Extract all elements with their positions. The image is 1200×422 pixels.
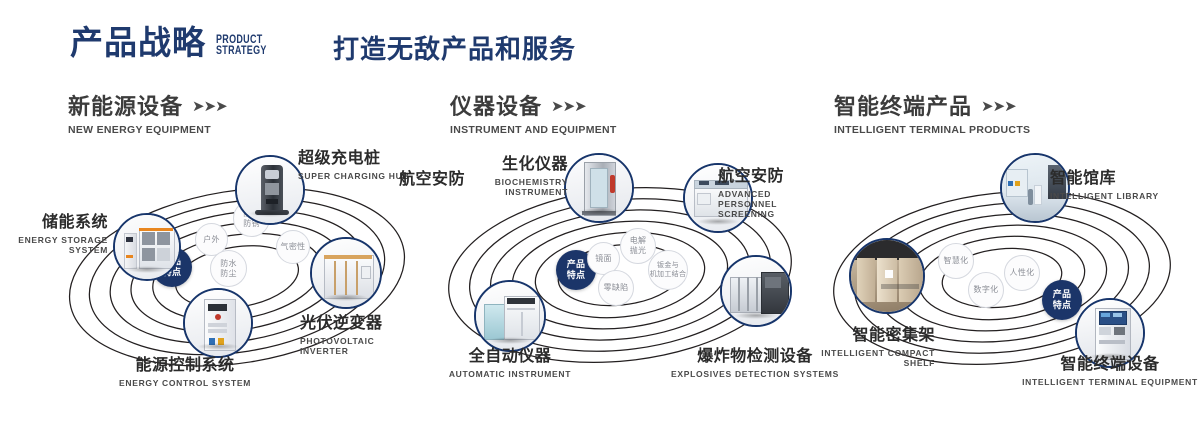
- node-label-cn: 全自动仪器: [425, 349, 595, 366]
- page-title: 产品战略 PRODUCT STRATEGY: [70, 26, 281, 59]
- cluster-instrument: 产品 特点 镜面 电解 抛光 零缺陷 钣金与 机加工结合: [430, 155, 810, 395]
- section-title-en: NEW ENERGY EQUIPMENT: [68, 125, 227, 136]
- poster-root: 产品战略 PRODUCT STRATEGY 打造无敌产品和服务 新能源设备➤➤➤…: [0, 0, 1200, 422]
- chevrons-icon: ➤➤➤: [192, 97, 227, 115]
- node-label-biochemistry: 生化仪器 BIOCHEMISTRY INSTRUMENT: [420, 157, 568, 197]
- node-label-cn: 智能终端设备: [1000, 357, 1200, 374]
- node-label-cn: 智能馆库: [1050, 171, 1159, 188]
- node-label-cn: 能源控制系统: [85, 358, 285, 375]
- product-photo-explosives-detection[interactable]: [720, 255, 792, 327]
- chevrons-icon: ➤➤➤: [551, 97, 586, 115]
- node-label-en: BIOCHEMISTRY INSTRUMENT: [420, 177, 568, 197]
- section-title-en: INTELLIGENT TERMINAL PRODUCTS: [834, 125, 1030, 136]
- feature-bubble-zero-defect: 零缺陷: [598, 270, 634, 306]
- section-title-cn: 仪器设备: [450, 96, 542, 118]
- page-title-en: PRODUCT STRATEGY: [216, 35, 267, 57]
- chevrons-icon: ➤➤➤: [981, 97, 1016, 115]
- feature-bubble-waterproof: 防水 防尘: [210, 250, 247, 287]
- cluster-new-energy: 产品 特点 户外 防腐 防锈 防水 防尘 气密性: [55, 155, 425, 395]
- node-label-intelligent-library: 智能馆库 INTELLIGENT LIBRARY: [1050, 171, 1159, 201]
- node-label-compact-shelf: 智能密集架 INTELLIGENT COMPACT SHELF: [810, 328, 935, 368]
- product-photo-energy-control[interactable]: [183, 288, 253, 358]
- node-label-en: INTELLIGENT TERMINAL EQUIPMENT: [1000, 377, 1200, 387]
- node-label-cn: 光伏逆变器: [300, 316, 425, 333]
- section-heading-intelligent: 智能终端产品➤➤➤ INTELLIGENT TERMINAL PRODUCTS: [834, 96, 1030, 136]
- node-label-energy-control: 能源控制系统 ENERGY CONTROL SYSTEM: [85, 358, 285, 388]
- product-photo-automatic-instrument[interactable]: [474, 280, 546, 352]
- node-label-cn: 储能系统: [13, 215, 108, 232]
- section-title-cn: 智能终端产品: [834, 96, 972, 118]
- node-label-cn: 航空安防: [718, 169, 810, 186]
- feature-bubble-sheetmetal-machining: 钣金与 机加工结合: [648, 250, 688, 290]
- feature-bubble-smart: 智慧化: [938, 243, 974, 279]
- section-heading-instrument: 仪器设备➤➤➤ INSTRUMENT AND EQUIPMENT: [450, 96, 617, 136]
- node-label-cn: 生化仪器: [420, 157, 568, 174]
- page-subtitle: 打造无敌产品和服务: [333, 36, 576, 62]
- product-photo-pv-inverter[interactable]: [310, 237, 382, 309]
- feature-bubble-humanized: 人性化: [1004, 255, 1040, 291]
- node-label-en: INTELLIGENT LIBRARY: [1050, 191, 1159, 201]
- node-label-personnel-screening: 航空安防 ADVANCED PERSONNEL SCREENING: [718, 169, 810, 219]
- product-photo-compact-shelf[interactable]: [849, 238, 925, 314]
- product-photo-biochemistry-instrument[interactable]: [564, 153, 634, 223]
- product-photo-energy-storage[interactable]: [113, 213, 181, 281]
- feature-core-bubble: 产品 特点: [1042, 280, 1082, 320]
- node-label-automatic-instrument: 全自动仪器 AUTOMATIC INSTRUMENT: [425, 349, 595, 379]
- node-label-pv-inverter: 光伏逆变器 PHOTOVOLTAIC INVERTER: [300, 316, 425, 356]
- page-title-cn: 产品战略: [70, 26, 206, 59]
- section-title-en: INSTRUMENT AND EQUIPMENT: [450, 125, 617, 136]
- node-label-en: INTELLIGENT COMPACT SHELF: [810, 348, 935, 368]
- cluster-intelligent-terminal: 智慧化 数字化 人性化 产品 特点: [820, 160, 1200, 400]
- node-label-en: AUTOMATIC INSTRUMENT: [425, 369, 595, 379]
- node-label-energy-storage: 储能系统 ENERGY STORAGE SYSTEM: [13, 215, 108, 255]
- product-photo-charging-hub[interactable]: [235, 155, 305, 225]
- node-label-en: ADVANCED PERSONNEL SCREENING: [718, 189, 810, 219]
- node-label-cn: 超级充电桩: [298, 151, 409, 168]
- node-label-en: ENERGY STORAGE SYSTEM: [13, 235, 108, 255]
- section-heading-new-energy: 新能源设备➤➤➤ NEW ENERGY EQUIPMENT: [68, 96, 227, 136]
- node-label-terminal-equipment: 智能终端设备 INTELLIGENT TERMINAL EQUIPMENT: [1000, 357, 1200, 387]
- feature-bubble-digital: 数字化: [968, 272, 1004, 308]
- node-label-cn: 智能密集架: [810, 328, 935, 345]
- section-title-cn: 新能源设备: [68, 96, 183, 118]
- node-label-en: ENERGY CONTROL SYSTEM: [85, 378, 285, 388]
- node-label-en: PHOTOVOLTAIC INVERTER: [300, 336, 425, 356]
- feature-bubble-airtight: 气密性: [276, 230, 310, 264]
